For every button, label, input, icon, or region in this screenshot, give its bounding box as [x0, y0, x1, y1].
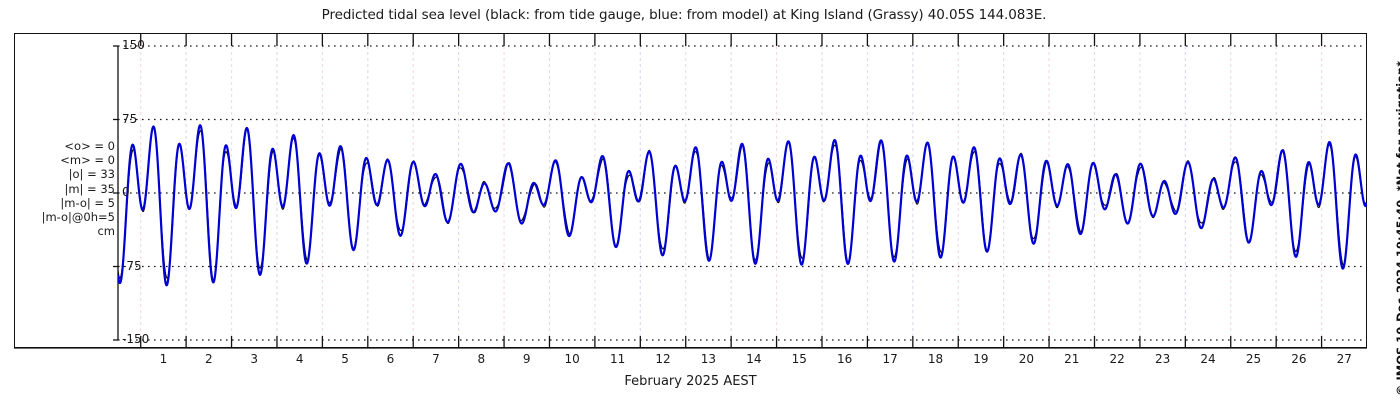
tidal-plot: [0, 0, 1400, 400]
statistic-line: |m| = 35: [18, 182, 115, 196]
statistic-line: |m-o| = 5: [18, 196, 115, 210]
horizontal-gridlines: [118, 46, 1367, 340]
x-axis-tick-label: 12: [643, 352, 683, 366]
statistic-line: |o| = 33: [18, 167, 115, 181]
x-axis-tick-label: 16: [825, 352, 865, 366]
x-axis-tick-label: 27: [1324, 352, 1364, 366]
statistic-line: <o> = 0: [18, 139, 115, 153]
x-axis-tick-label: 7: [416, 352, 456, 366]
x-axis-tick-label: 21: [1052, 352, 1092, 366]
axes: [14, 34, 1367, 348]
x-axis-tick-label: 23: [1143, 352, 1183, 366]
x-axis-tick-label: 15: [779, 352, 819, 366]
y-axis-tick-label: 75: [122, 112, 137, 126]
x-axis-tick-label: 6: [371, 352, 411, 366]
statistics-block: <o> = 0<m> = 0|o| = 33|m| = 35|m-o| = 5|…: [18, 139, 115, 238]
credit-note: © IMOS 10-Dec-2024 19:45:40. *Not for na…: [1379, 0, 1399, 400]
x-axis-tick-label: 26: [1279, 352, 1319, 366]
statistic-line: |m-o|@0h=5: [18, 210, 115, 224]
x-axis-tick-label: 1: [143, 352, 183, 366]
y-axis-tick-label: -150: [122, 332, 149, 346]
x-axis-tick-label: 11: [598, 352, 638, 366]
x-axis-tick-label: 13: [688, 352, 728, 366]
y-axis-tick-label: -75: [122, 259, 142, 273]
x-axis-tick-label: 9: [507, 352, 547, 366]
statistic-line: cm: [18, 224, 115, 238]
x-axis-tick-label: 25: [1233, 352, 1273, 366]
x-axis-tick-label: 10: [552, 352, 592, 366]
x-axis-tick-label: 4: [280, 352, 320, 366]
statistic-line: <m> = 0: [18, 153, 115, 167]
x-axis-tick-label: 18: [916, 352, 956, 366]
y-axis-tick-label: 150: [122, 38, 145, 52]
x-axis-tick-label: 8: [461, 352, 501, 366]
x-axis-tick-label: 22: [1097, 352, 1137, 366]
data-curves: [118, 125, 1367, 285]
x-axis-tick-label: 14: [734, 352, 774, 366]
credit-text: © IMOS 10-Dec-2024 19:45:40. *Not for na…: [1394, 61, 1400, 396]
x-axis-tick-label: 17: [870, 352, 910, 366]
x-axis-tick-label: 3: [234, 352, 274, 366]
x-axis-tick-label: 19: [961, 352, 1001, 366]
series-model: [118, 125, 1367, 285]
x-axis-tick-label: 20: [1006, 352, 1046, 366]
y-axis-tick-label: 0: [122, 185, 130, 199]
tidal-chart-figure: Predicted tidal sea level (black: from t…: [0, 0, 1400, 400]
x-axis-tick-label: 2: [189, 352, 229, 366]
x-axis-tick-label: 5: [325, 352, 365, 366]
x-axis-tick-label: 24: [1188, 352, 1228, 366]
x-axis-title: February 2025 AEST: [14, 374, 1367, 389]
